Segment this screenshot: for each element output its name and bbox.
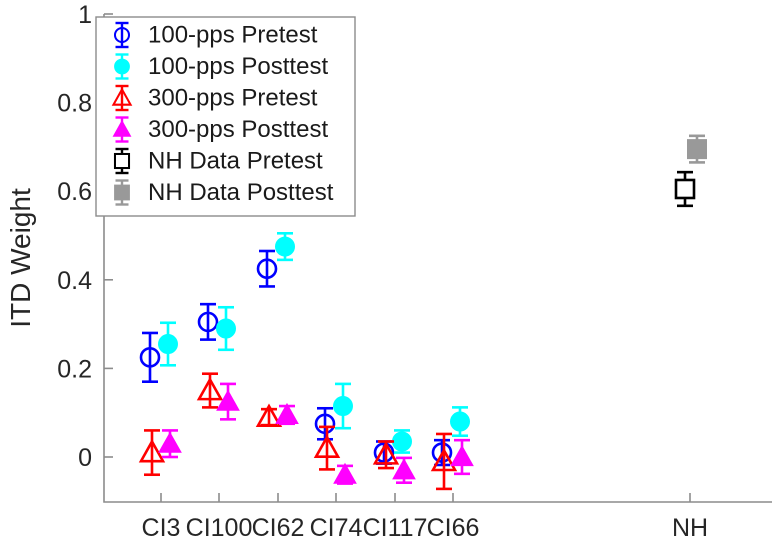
itd-weight-scatter-chart: 00.20.40.60.81CI3CI100CI62CI74CI117CI66N…: [0, 0, 778, 546]
legend-label: 300-pps Posttest: [148, 116, 328, 143]
legend-label: 300-pps Pretest: [148, 84, 318, 111]
x-tick-label-nh: NH: [672, 514, 708, 542]
legend-label: NH Data Posttest: [148, 179, 334, 206]
y-tick-label: 0.8: [57, 90, 92, 118]
chart-legend: 100-pps Pretest100-pps Posttest300-pps P…: [96, 17, 355, 216]
x-tick-label-ci3: CI3: [142, 514, 181, 542]
y-tick-label: 0.2: [57, 355, 92, 383]
legend-label: 100-pps Pretest: [148, 21, 318, 48]
y-tick-label: 1: [78, 1, 92, 29]
legend-item-nh-data-posttest[interactable]: NH Data Posttest: [115, 179, 334, 206]
x-tick-label-ci117: CI117: [363, 514, 428, 542]
series-nh-data-posttest: [688, 136, 707, 163]
series-nh-data-pretest: [676, 172, 694, 206]
y-tick-label: 0.4: [57, 267, 92, 295]
x-tick-label-ci66: CI66: [427, 514, 480, 542]
y-tick-label: 0: [78, 444, 92, 472]
legend-label: NH Data Pretest: [148, 147, 323, 174]
y-tick-label: 0.6: [57, 178, 92, 206]
x-tick-label-ci74: CI74: [310, 514, 363, 542]
chart-canvas: 00.20.40.60.81CI3CI100CI62CI74CI117CI66N…: [0, 0, 778, 546]
y-axis-label: ITD Weight: [5, 188, 36, 328]
x-tick-label-ci100: CI100: [186, 514, 253, 542]
legend-label: 100-pps Posttest: [148, 53, 328, 80]
series-100-pps-posttest: [159, 233, 470, 452]
x-tick-label-ci62: CI62: [252, 514, 305, 542]
